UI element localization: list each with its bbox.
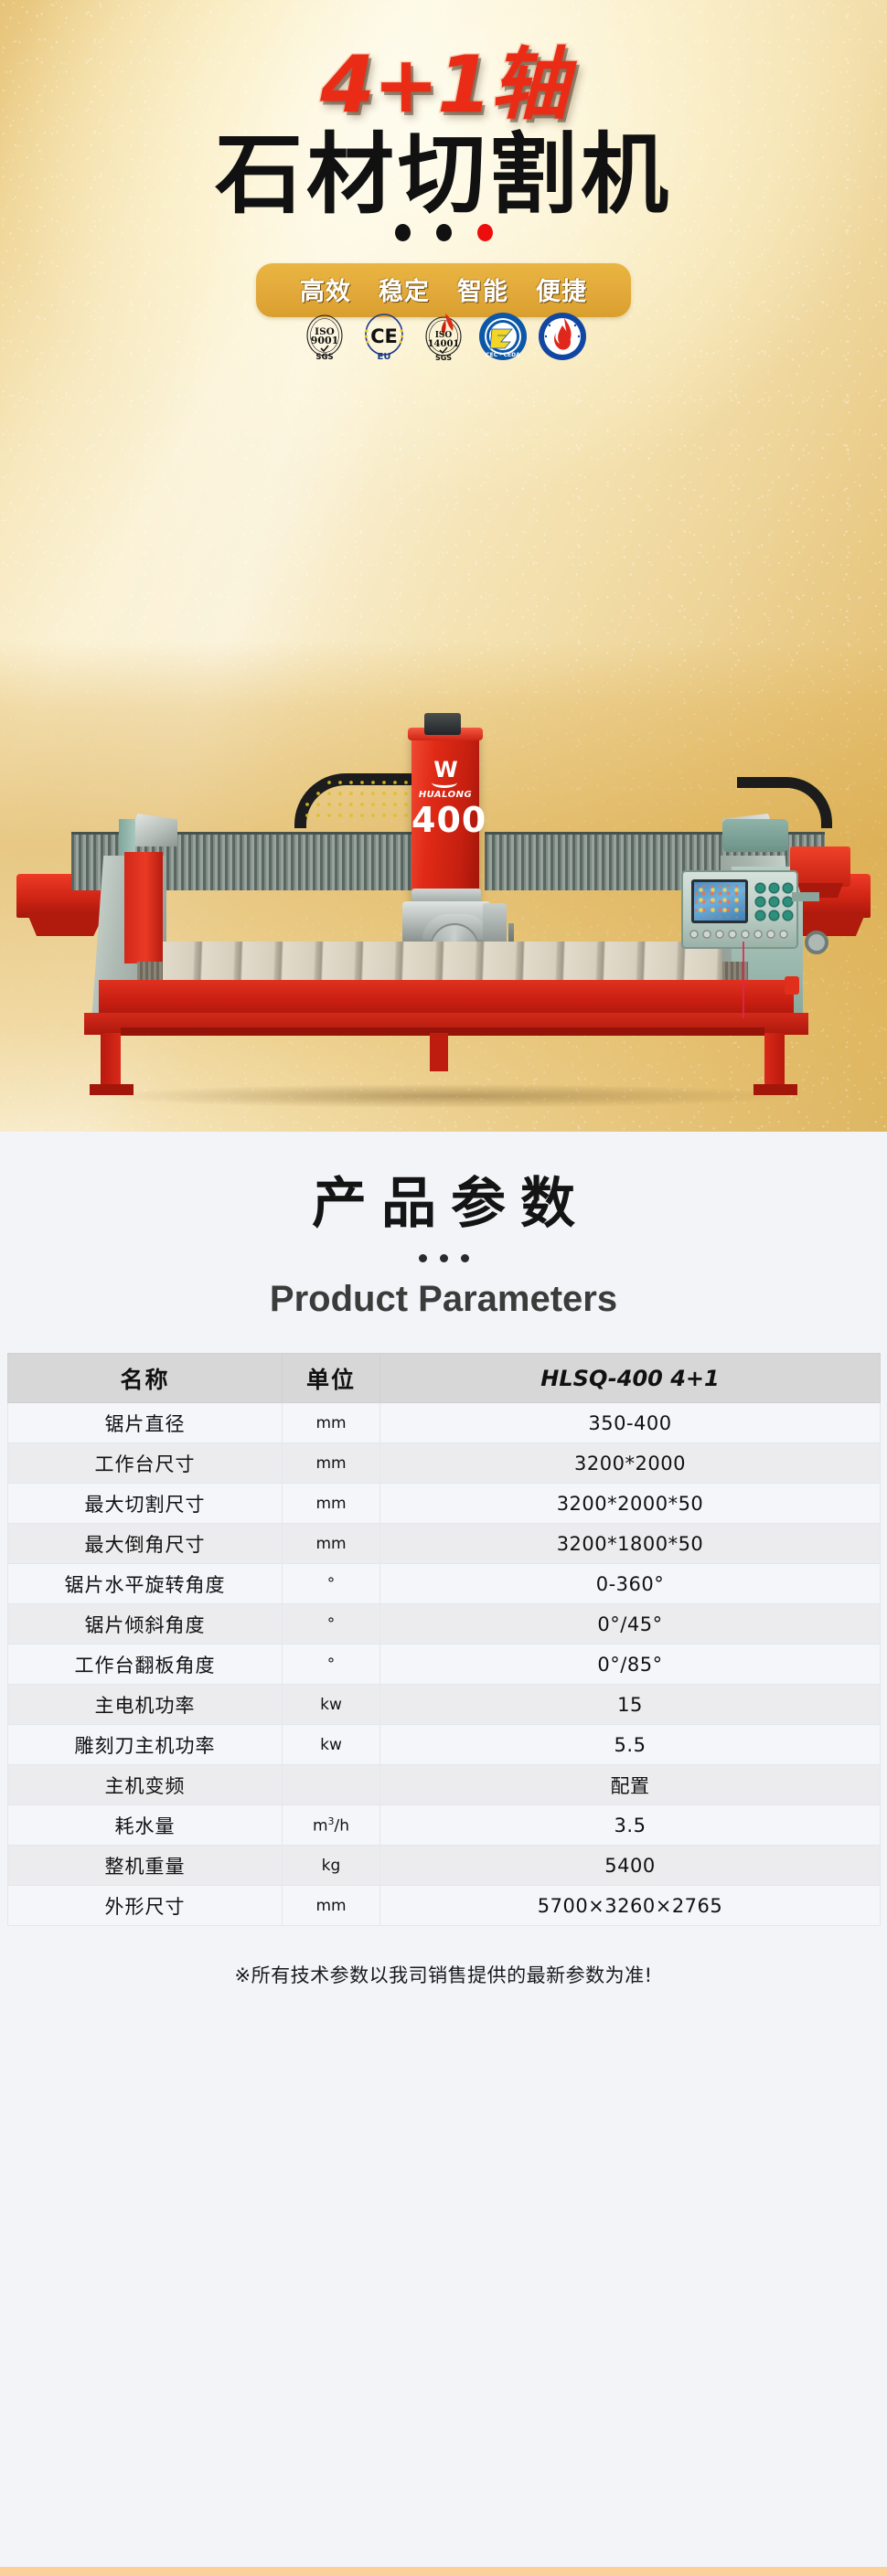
cell-value: 3200*1800*50 bbox=[380, 1524, 881, 1564]
cell-value: 5700×3260×2765 bbox=[380, 1886, 881, 1926]
cell-name: 耗水量 bbox=[8, 1805, 283, 1846]
table-row: 最大切割尺寸mm3200*2000*50 bbox=[8, 1484, 881, 1524]
cell-value: 3.5 bbox=[380, 1805, 881, 1846]
table-row: 锯片直径mm350-400 bbox=[8, 1403, 881, 1443]
svg-text:SGS: SGS bbox=[435, 354, 452, 362]
keyword-2: 智能 bbox=[457, 271, 508, 307]
svg-text:SGS: SGS bbox=[315, 353, 333, 362]
right-red-housing bbox=[790, 846, 850, 887]
brand-name: HUALONG bbox=[411, 790, 479, 800]
flame-emblem-badge bbox=[537, 311, 588, 362]
hand-wheel[interactable] bbox=[805, 931, 828, 954]
svg-text:EU: EU bbox=[378, 352, 391, 362]
emergency-stop-switch[interactable] bbox=[785, 976, 799, 995]
cnc-buttons[interactable] bbox=[688, 927, 790, 942]
cell-name: 主机变频 bbox=[8, 1765, 283, 1805]
table-row: 锯片水平旋转角度°0-360° bbox=[8, 1564, 881, 1604]
cell-unit: ° bbox=[283, 1564, 380, 1604]
cec-ceda-badge: CEC · CEDA bbox=[477, 311, 529, 362]
cnc-knobs[interactable] bbox=[753, 881, 794, 921]
table-row: 雕刻刀主机功率kw5.5 bbox=[8, 1725, 881, 1765]
base-center-foot bbox=[430, 1033, 448, 1071]
section-dot-3 bbox=[461, 1254, 469, 1262]
machine-model-number: 400 bbox=[411, 804, 479, 836]
cell-unit: mm bbox=[283, 1886, 380, 1926]
base-foot-left bbox=[90, 1084, 134, 1095]
cell-name: 雕刻刀主机功率 bbox=[8, 1725, 283, 1765]
hualong-logo-arc bbox=[432, 777, 457, 788]
cell-name: 外形尺寸 bbox=[8, 1886, 283, 1926]
keyword-pill-wrap: 高效 稳定 智能 便捷 bbox=[0, 263, 887, 317]
router-spindle bbox=[483, 903, 507, 943]
cell-unit: kw bbox=[283, 1685, 380, 1725]
keyword-3: 便捷 bbox=[536, 271, 587, 307]
spec-footnote: ※所有技术参数以我司销售提供的最新参数为准! bbox=[0, 1926, 887, 1988]
table-row: 主电机功率kw15 bbox=[8, 1685, 881, 1725]
dot-red-3 bbox=[477, 224, 493, 241]
cell-unit: mm bbox=[283, 1524, 380, 1564]
iso-9001-sgs-badge: ISO 9001 SGS bbox=[299, 311, 350, 362]
base-leg-left bbox=[101, 1033, 121, 1090]
svg-text:14001: 14001 bbox=[428, 339, 460, 349]
cell-name: 工作台翻板角度 bbox=[8, 1645, 283, 1685]
cell-unit bbox=[283, 1765, 380, 1805]
table-row: 主机变频配置 bbox=[8, 1765, 881, 1805]
cable-chain-studs bbox=[302, 777, 421, 819]
cell-name: 锯片水平旋转角度 bbox=[8, 1564, 283, 1604]
bottom-accent-band bbox=[0, 2567, 887, 2576]
header-unit: 单位 bbox=[283, 1354, 380, 1403]
section-dot-1 bbox=[419, 1254, 427, 1262]
product-parameters-section: 产品参数 Product Parameters 名称 单位 HLSQ-400 4… bbox=[0, 1132, 887, 1988]
ce-eu-badge: CE EU bbox=[358, 311, 410, 362]
cell-value: 3200*2000*50 bbox=[380, 1484, 881, 1524]
cell-value: 0-360° bbox=[380, 1564, 881, 1604]
cell-name: 整机重量 bbox=[8, 1846, 283, 1886]
keyword-pill: 高效 稳定 智能 便捷 bbox=[256, 263, 631, 317]
cell-value: 15 bbox=[380, 1685, 881, 1725]
cell-value: 5.5 bbox=[380, 1725, 881, 1765]
cell-name: 主电机功率 bbox=[8, 1685, 283, 1725]
cell-value: 5400 bbox=[380, 1846, 881, 1886]
cnc-panel-arm bbox=[792, 892, 819, 901]
cell-unit: m3/h bbox=[283, 1805, 380, 1846]
spec-table-body: 锯片直径mm350-400工作台尺寸mm3200*2000最大切割尺寸mm320… bbox=[8, 1403, 881, 1926]
cell-unit: kw bbox=[283, 1725, 380, 1765]
table-row: 锯片倾斜角度°0°/45° bbox=[8, 1604, 881, 1645]
keyword-1: 稳定 bbox=[379, 271, 430, 307]
table-row: 最大倒角尺寸mm3200*1800*50 bbox=[8, 1524, 881, 1564]
hero-axis-title: 4+1轴 bbox=[0, 44, 887, 126]
cell-name: 工作台尺寸 bbox=[8, 1443, 283, 1484]
cell-value: 0°/45° bbox=[380, 1604, 881, 1645]
hero-main-title: 石材切割机 bbox=[0, 128, 887, 223]
cell-value: 0°/85° bbox=[380, 1645, 881, 1685]
cable-chain-right bbox=[737, 777, 832, 828]
section-dot-group bbox=[0, 1254, 887, 1262]
svg-text:9001: 9001 bbox=[311, 335, 339, 346]
left-end-cap-bevel bbox=[27, 914, 104, 936]
section-title-en: Product Parameters bbox=[0, 1279, 887, 1320]
ram-top-cap bbox=[424, 713, 461, 735]
svg-text:CE: CE bbox=[370, 325, 398, 347]
cell-unit: ° bbox=[283, 1604, 380, 1645]
cell-unit: kg bbox=[283, 1846, 380, 1886]
cell-value: 3200*2000 bbox=[380, 1443, 881, 1484]
header-model: HLSQ-400 4+1 bbox=[380, 1354, 881, 1403]
cnc-screen-content bbox=[695, 885, 744, 918]
cell-name: 锯片倾斜角度 bbox=[8, 1604, 283, 1645]
iso-14001-sgs-badge: ISO 14001 SGS bbox=[418, 311, 469, 362]
certification-badge-row: ISO 9001 SGS CE EU bbox=[0, 311, 887, 362]
hero-banner: 4+1轴 石材切割机 高效 稳定 智能 便捷 ISO 9001 SGS bbox=[0, 0, 887, 1132]
cell-unit: mm bbox=[283, 1443, 380, 1484]
product-machine-image: W HUALONG 400 bbox=[0, 640, 887, 1132]
base-leg-right bbox=[764, 1033, 785, 1090]
header-name: 名称 bbox=[8, 1354, 283, 1403]
cell-name: 锯片直径 bbox=[8, 1403, 283, 1443]
hero-dot-group bbox=[0, 224, 887, 241]
section-dot-2 bbox=[440, 1254, 448, 1262]
base-foot-right bbox=[753, 1084, 797, 1095]
dot-black-1 bbox=[395, 224, 411, 241]
dot-black-2 bbox=[436, 224, 452, 241]
cell-value: 350-400 bbox=[380, 1403, 881, 1443]
column-left-red-face bbox=[124, 852, 163, 963]
cell-unit: ° bbox=[283, 1645, 380, 1685]
spec-table: 名称 单位 HLSQ-400 4+1 锯片直径mm350-400工作台尺寸mm3… bbox=[7, 1353, 881, 1926]
table-row: 工作台翻板角度°0°/85° bbox=[8, 1645, 881, 1685]
cell-unit: mm bbox=[283, 1484, 380, 1524]
table-row: 工作台尺寸mm3200*2000 bbox=[8, 1443, 881, 1484]
cell-unit: mm bbox=[283, 1403, 380, 1443]
svg-text:CEC · CEDA: CEC · CEDA bbox=[486, 352, 520, 358]
keyword-0: 高效 bbox=[300, 271, 351, 307]
section-title-cn: 产品参数 bbox=[0, 1132, 887, 1234]
laser-guide-line bbox=[743, 942, 744, 1018]
machine-shadow bbox=[110, 1084, 786, 1108]
cell-value: 配置 bbox=[380, 1765, 881, 1805]
table-row: 整机重量kg5400 bbox=[8, 1846, 881, 1886]
table-row: 耗水量m3/h3.5 bbox=[8, 1805, 881, 1846]
cell-name: 最大倒角尺寸 bbox=[8, 1524, 283, 1564]
spec-table-header-row: 名称 单位 HLSQ-400 4+1 bbox=[8, 1354, 881, 1403]
table-row: 外形尺寸mm5700×3260×2765 bbox=[8, 1886, 881, 1926]
cell-name: 最大切割尺寸 bbox=[8, 1484, 283, 1524]
